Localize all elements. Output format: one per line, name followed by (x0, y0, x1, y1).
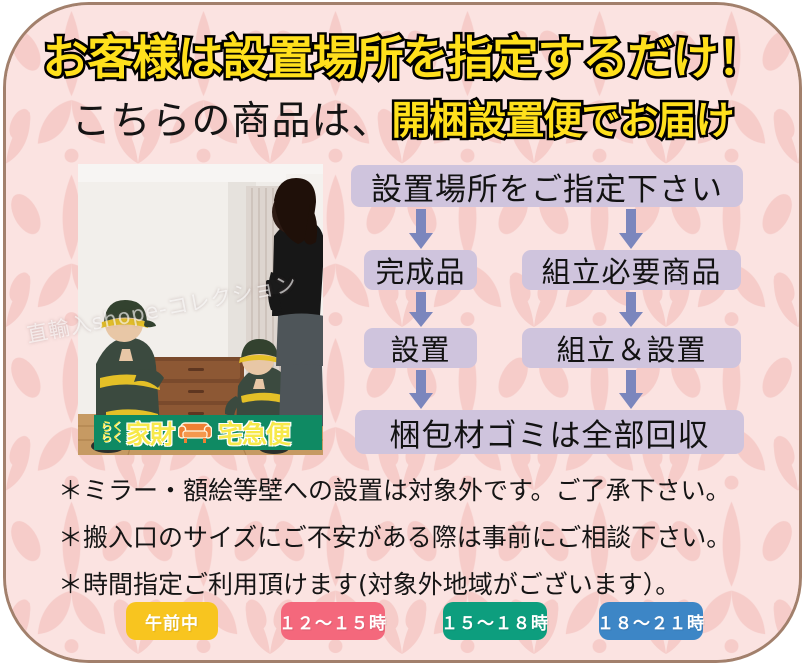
banner-subtitle-highlight: 開梱設置便でお届け (392, 99, 734, 144)
time-slot-morning[interactable]: 午前中 (126, 602, 218, 640)
flow-box-installation: 設置 (364, 328, 477, 368)
rakuraku-kazai-takkyubin-logo: らく らく 家財 宅急便 (94, 415, 322, 450)
arrow-down-icon (407, 292, 435, 327)
sofa-icon (178, 417, 212, 448)
logo-rakuraku-text: らく らく (101, 422, 123, 443)
logo-takkyubin-text: 宅急便 (218, 415, 290, 450)
note-line-3: ＊時間指定ご利用頂けます(対象外地域がございます）。 (58, 565, 680, 601)
time-slot-15-18[interactable]: １５〜１８時 (443, 602, 547, 640)
time-slot-18-21[interactable]: １８〜２１時 (599, 602, 703, 640)
flow-box-assembly-required: 組立必要商品 (522, 250, 741, 290)
logo-kazai-text: 家財 (126, 415, 174, 450)
banner-title: お客様は設置場所を指定するだけ！ (6, 22, 799, 88)
logo-raku-line-2: らく (101, 433, 123, 443)
banner-title-text: お客様は設置場所を指定するだけ！ (43, 31, 763, 85)
promo-banner: お客様は設置場所を指定するだけ！ こちらの商品は、開梱設置便でお届け (0, 0, 805, 666)
note-line-2: ＊搬入口のサイズにご不安がある際は事前にご相談下さい。 (58, 518, 731, 554)
flow-box-packaging-waste-collected: 梱包材ゴミは全部回収 (355, 410, 744, 454)
arrow-down-icon (407, 370, 435, 409)
banner-subtitle-plain: こちらの商品は、 (71, 99, 391, 144)
banner-frame: お客様は設置場所を指定するだけ！ こちらの商品は、開梱設置便でお届け (3, 2, 802, 663)
flow-box-specify-location: 設置場所をご指定下さい (351, 165, 743, 207)
time-slot-12-15[interactable]: １２〜１５時 (281, 602, 385, 640)
note-line-1: ＊ミラー・額絵等壁への設置は対象外です。ご了承下さい。 (58, 471, 731, 507)
banner-subtitle: こちらの商品は、開梱設置便でお届け (6, 90, 799, 146)
arrow-down-icon (407, 209, 435, 249)
flow-box-assembly-and-installation: 組立＆設置 (522, 328, 741, 368)
delivery-photo (78, 164, 323, 455)
flow-box-finished-product: 完成品 (364, 250, 477, 290)
arrow-down-icon (617, 370, 645, 409)
arrow-down-icon (617, 209, 645, 249)
arrow-down-icon (617, 292, 645, 327)
